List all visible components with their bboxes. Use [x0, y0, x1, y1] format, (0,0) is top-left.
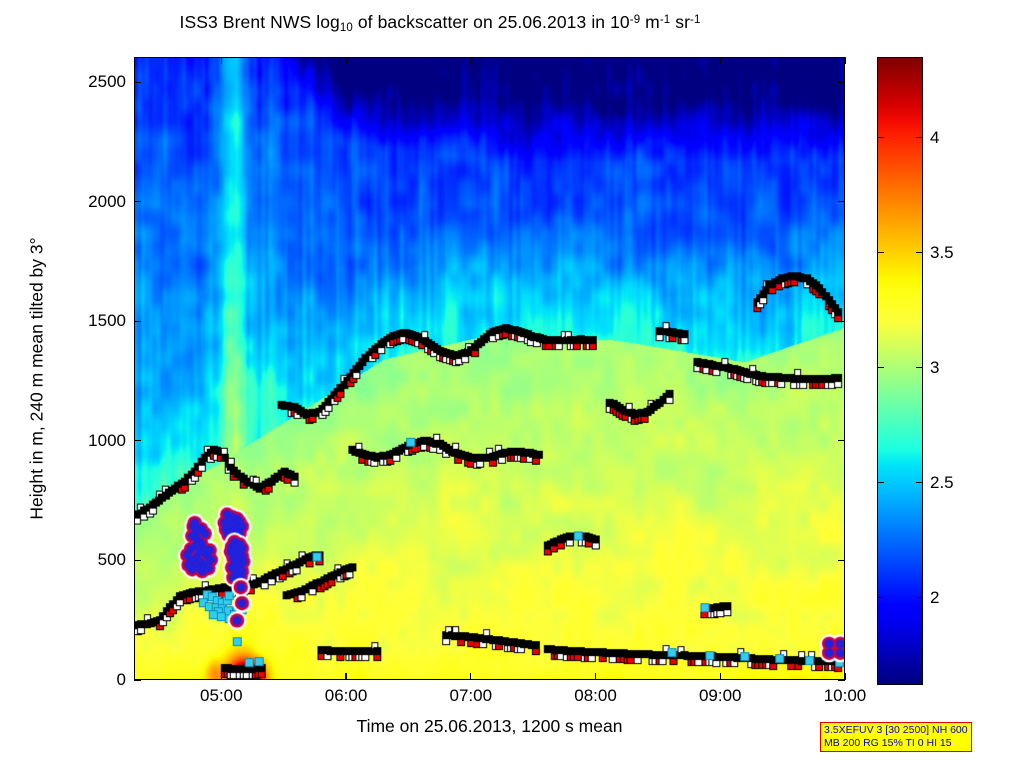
colorbar-tick-mark: [877, 137, 884, 138]
x-tick-mark: [844, 57, 845, 64]
title-exp-m1: -1: [660, 14, 670, 26]
settings-annotation-box: 3.5XEFUV 3 [30 2500] NH 600 MB 200 RG 15…: [820, 722, 972, 752]
y-tick-mark: [838, 201, 845, 202]
x-tick-mark: [595, 57, 596, 64]
y-tick-label: 2000: [0, 192, 134, 212]
colorbar-tick-label: 3: [930, 358, 939, 378]
y-tick-label: 500: [0, 550, 134, 570]
y-tick-mark: [838, 440, 845, 441]
colorbar-tick-label: 2.5: [930, 473, 954, 493]
figure-root: ISS3 Brent NWS log10 of backscatter on 2…: [0, 0, 1023, 767]
x-tick-mark: [844, 673, 845, 680]
annotation-line-2: MB 200 RG 15% TI 0 HI 15: [824, 737, 968, 750]
title-mid3: sr: [670, 12, 690, 32]
annotation-line-1: 3.5XEFUV 3 [30 2500] NH 600: [824, 724, 968, 737]
title-log-subscript: 10: [340, 22, 353, 34]
title-mid: of backscatter on 25.06.2013 in 10: [353, 12, 630, 32]
y-tick-mark: [134, 440, 141, 441]
y-tick-mark: [838, 321, 845, 322]
y-tick-mark: [134, 679, 141, 680]
x-tick-label: 06:00: [286, 686, 406, 706]
x-tick-label: 08:00: [536, 686, 656, 706]
colorbar-tick-mark: [877, 597, 884, 598]
y-tick-label: 1500: [0, 311, 134, 331]
colorbar[interactable]: [877, 57, 923, 685]
y-tick-mark: [134, 560, 141, 561]
detection-overlay: [135, 58, 844, 679]
colorbar-tick-label: 2: [930, 588, 939, 608]
y-tick-mark: [134, 82, 141, 83]
colorbar-tick-mark: [877, 482, 884, 483]
y-tick-mark: [134, 201, 141, 202]
page-title: ISS3 Brent NWS log10 of backscatter on 2…: [0, 12, 880, 34]
y-tick-label: 2500: [0, 72, 134, 92]
x-tick-mark: [470, 673, 471, 680]
plot-canvas-host: [135, 58, 844, 679]
x-tick-mark: [720, 57, 721, 64]
y-tick-label: 1000: [0, 431, 134, 451]
x-tick-mark: [221, 57, 222, 64]
x-tick-mark: [221, 673, 222, 680]
x-tick-mark: [345, 673, 346, 680]
colorbar-tick-mark: [916, 367, 923, 368]
x-tick-label: 07:00: [411, 686, 531, 706]
x-tick-label: 10:00: [785, 686, 905, 706]
title-exp-sr1: -1: [690, 14, 700, 26]
plot-area[interactable]: [134, 57, 845, 680]
x-tick-mark: [720, 673, 721, 680]
colorbar-tick-label: 4: [930, 128, 939, 148]
colorbar-tick-mark: [916, 597, 923, 598]
title-mid2: m: [640, 12, 660, 32]
x-tick-label: 05:00: [161, 686, 281, 706]
x-tick-mark: [470, 57, 471, 64]
y-tick-mark: [838, 560, 845, 561]
colorbar-tick-mark: [877, 252, 884, 253]
colorbar-tick-mark: [877, 367, 884, 368]
y-tick-mark: [134, 321, 141, 322]
title-prefix: ISS3 Brent NWS log: [180, 12, 340, 32]
colorbar-tick-mark: [916, 252, 923, 253]
y-axis-label: Height in m, 240 m mean tilted by 3°: [27, 169, 48, 589]
y-tick-mark: [838, 82, 845, 83]
x-tick-mark: [345, 57, 346, 64]
colorbar-tick-label: 3.5: [930, 243, 954, 263]
x-axis-label: Time on 25.06.2013, 1200 s mean: [134, 716, 845, 737]
x-tick-mark: [595, 673, 596, 680]
title-exp-9: -9: [630, 14, 640, 26]
colorbar-tick-mark: [916, 137, 923, 138]
y-tick-label: 0: [0, 670, 134, 690]
colorbar-gradient: [878, 58, 922, 684]
x-tick-label: 09:00: [660, 686, 780, 706]
colorbar-tick-mark: [916, 482, 923, 483]
